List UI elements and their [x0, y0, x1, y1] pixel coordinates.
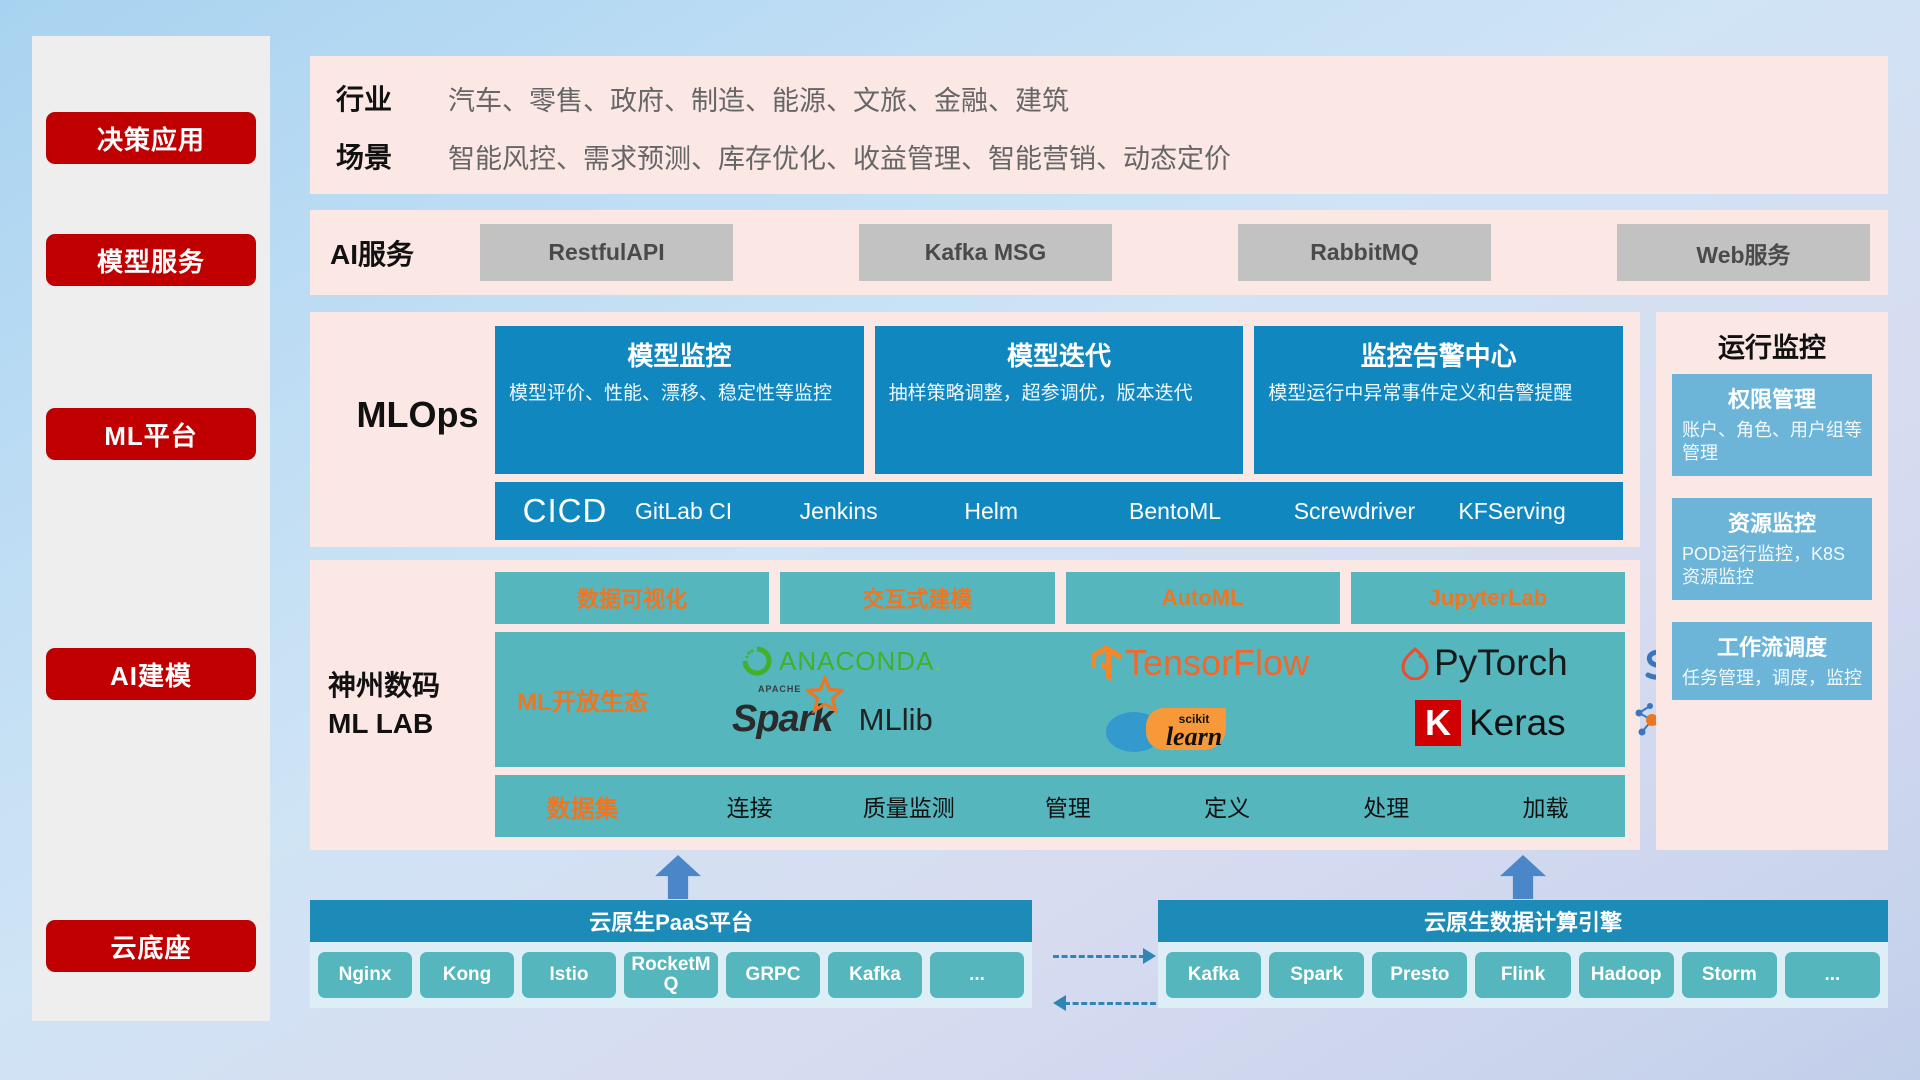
ml-ecosystem-logos: ANACONDA. APACHE Spark MLlib: [670, 632, 1625, 767]
mlops-card-title: 监控告警中心: [1268, 336, 1609, 373]
monitor-card-permission[interactable]: 权限管理 账户、角色、用户组等管理: [1672, 374, 1872, 476]
rail-item-cloud-base[interactable]: 云底座: [46, 920, 256, 972]
monitor-card-title: 工作流调度: [1682, 630, 1862, 662]
dataset-item-definition[interactable]: 定义: [1148, 789, 1307, 823]
mlops-card-title: 模型迭代: [889, 336, 1230, 373]
ml-tool-list: 数据可视化 交互式建模 AutoML JupyterLab: [495, 572, 1625, 624]
tool-label: AutoML: [1162, 585, 1244, 611]
service-label: Web服务: [1696, 236, 1790, 270]
keras-logo: K Keras: [1415, 700, 1566, 746]
ml-lab-section-label: 神州数码 ML LAB: [328, 560, 508, 850]
rail-item-ai-modeling[interactable]: AI建模: [46, 648, 256, 700]
cloud-paas-header: 云原生PaaS平台: [310, 900, 1032, 942]
scenario-value: 智能风控、需求预测、库存优化、收益管理、智能营销、动态定价: [448, 137, 1231, 176]
mlops-card-desc: 模型评价、性能、漂移、稳定性等监控: [509, 381, 850, 407]
rail-item-ml-platform[interactable]: ML平台: [46, 408, 256, 460]
cloud-chip-grpc[interactable]: GRPC: [726, 952, 820, 998]
scenario-label: 场景: [336, 136, 448, 176]
pytorch-logo: PyTorch: [1400, 642, 1568, 684]
rail-item-label: 模型服务: [97, 242, 205, 279]
spark-mllib-logo: APACHE Spark MLlib: [732, 698, 933, 741]
rail-item-decision-app[interactable]: 决策应用: [46, 112, 256, 164]
mlops-card-alert-center[interactable]: 监控告警中心 模型运行中异常事件定义和告警提醒: [1254, 326, 1623, 474]
dataset-item-processing[interactable]: 处理: [1307, 789, 1466, 823]
dataset-item-loading[interactable]: 加载: [1466, 789, 1625, 823]
mlops-section-label: MLOps: [330, 312, 505, 517]
cicd-bar: CICD GitLab CI Jenkins Helm BentoML Scre…: [495, 482, 1623, 540]
service-label: RestfulAPI: [548, 239, 664, 266]
service-label: RabbitMQ: [1310, 239, 1419, 266]
cloud-chip-more[interactable]: ...: [930, 952, 1024, 998]
monitor-card-list: 权限管理 账户、角色、用户组等管理 资源监控 POD运行监控，K8S资源监控 工…: [1672, 374, 1872, 722]
cloud-chip-rocketmq[interactable]: RocketMQ: [624, 952, 718, 998]
service-box-kafka-msg[interactable]: Kafka MSG: [859, 224, 1112, 281]
dataset-band: 数据集 连接 质量监测 管理 定义 处理 加载: [495, 775, 1625, 837]
service-box-restfulapi[interactable]: RestfulAPI: [480, 224, 733, 281]
cloud-native-compute-group: 云原生数据计算引擎 Kafka Spark Presto Flink Hadoo…: [1158, 900, 1888, 1008]
dataset-item-quality-monitoring[interactable]: 质量监测: [829, 789, 988, 823]
dashed-arrow-right-icon: [1053, 955, 1156, 957]
tool-label: 交互式建模: [862, 582, 972, 614]
industry-value: 汽车、零售、政府、制造、能源、文旅、金融、建筑: [448, 79, 1069, 118]
cloud-chip-flink[interactable]: Flink: [1475, 952, 1570, 998]
mlops-card-desc: 抽样策略调整，超参调优，版本迭代: [889, 381, 1230, 407]
service-box-web-service[interactable]: Web服务: [1617, 224, 1870, 281]
cicd-item-kfserving[interactable]: KFServing: [1458, 499, 1623, 523]
mlops-card-list: 模型监控 模型评价、性能、漂移、稳定性等监控 模型迭代 抽样策略调整，超参调优，…: [495, 326, 1623, 474]
cicd-item-screwdriver[interactable]: Screwdriver: [1294, 499, 1459, 523]
tool-label: JupyterLab: [1429, 585, 1548, 611]
cloud-chip-istio[interactable]: Istio: [522, 952, 616, 998]
rail-item-label: ML平台: [104, 416, 198, 453]
cloud-chip-kong[interactable]: Kong: [420, 952, 514, 998]
ml-ecosystem-label: ML开放生态: [495, 682, 670, 717]
dashed-arrow-left-icon: [1053, 1002, 1156, 1004]
cloud-chip-kafka[interactable]: Kafka: [1166, 952, 1261, 998]
tool-box-interactive-modeling[interactable]: 交互式建模: [780, 572, 1054, 624]
tool-box-data-visualization[interactable]: 数据可视化: [495, 572, 769, 624]
cloud-chip-kafka[interactable]: Kafka: [828, 952, 922, 998]
ai-service-list: RestfulAPI Kafka MSG RabbitMQ Web服务: [480, 224, 1870, 281]
dataset-item-management[interactable]: 管理: [988, 789, 1147, 823]
cloud-compute-chip-list: Kafka Spark Presto Flink Hadoop Storm ..…: [1158, 942, 1888, 1008]
ml-lab-label-line1: 神州数码: [328, 667, 440, 705]
cicd-item-gitlab-ci[interactable]: GitLab CI: [635, 499, 800, 523]
tool-box-automl[interactable]: AutoML: [1066, 572, 1340, 624]
tool-box-jupyterlab[interactable]: JupyterLab: [1351, 572, 1625, 624]
monitor-card-workflow[interactable]: 工作流调度 任务管理，调度，监控: [1672, 622, 1872, 700]
ml-lab-panel: 神州数码 ML LAB 数据可视化 交互式建模 AutoML JupyterLa…: [310, 560, 1640, 850]
cloud-chip-more[interactable]: ...: [1785, 952, 1880, 998]
cloud-native-paas-group: 云原生PaaS平台 Nginx Kong Istio RocketMQ GRPC…: [310, 900, 1032, 1008]
service-label: Kafka MSG: [925, 239, 1046, 266]
monitor-card-desc: POD运行监控，K8S资源监控: [1682, 543, 1862, 590]
service-box-rabbitmq[interactable]: RabbitMQ: [1238, 224, 1491, 281]
cloud-chip-spark[interactable]: Spark: [1269, 952, 1364, 998]
mlops-card-model-iteration[interactable]: 模型迭代 抽样策略调整，超参调优，版本迭代: [875, 326, 1244, 474]
ai-service-panel: AI服务 RestfulAPI Kafka MSG RabbitMQ Web服务: [310, 210, 1888, 295]
industry-label: 行业: [336, 78, 448, 118]
scenario-row: 场景 智能风控、需求预测、库存优化、收益管理、智能营销、动态定价: [336, 132, 1231, 180]
cicd-item-jenkins[interactable]: Jenkins: [800, 499, 965, 523]
monitor-card-title: 资源监控: [1682, 506, 1862, 538]
ml-ecosystem-band: ML开放生态 ANACONDA. APACHE Spa: [495, 632, 1625, 767]
mlops-card-model-monitoring[interactable]: 模型监控 模型评价、性能、漂移、稳定性等监控: [495, 326, 864, 474]
svg-text:learn: learn: [1166, 722, 1222, 751]
monitor-card-title: 权限管理: [1682, 382, 1862, 414]
anaconda-logo: ANACONDA.: [740, 644, 943, 678]
cloud-chip-presto[interactable]: Presto: [1372, 952, 1467, 998]
cloud-chip-nginx[interactable]: Nginx: [318, 952, 412, 998]
tensorflow-logo: TensorFlow: [1090, 642, 1309, 684]
dataset-label: 数据集: [495, 789, 670, 824]
mlops-panel: MLOps 模型监控 模型评价、性能、漂移、稳定性等监控 模型迭代 抽样策略调整…: [310, 312, 1640, 547]
scikit-learn-logo: scikit learn: [1102, 698, 1292, 754]
tool-label: 数据可视化: [577, 582, 687, 614]
layer-rail: 决策应用 模型服务 ML平台 AI建模 云底座: [32, 36, 270, 1021]
monitor-card-resource[interactable]: 资源监控 POD运行监控，K8S资源监控: [1672, 498, 1872, 600]
cloud-compute-header: 云原生数据计算引擎: [1158, 900, 1888, 942]
cicd-item-bentoml[interactable]: BentoML: [1129, 499, 1294, 523]
cloud-chip-hadoop[interactable]: Hadoop: [1579, 952, 1674, 998]
industry-scenario-panel: 行业 汽车、零售、政府、制造、能源、文旅、金融、建筑 场景 智能风控、需求预测、…: [310, 56, 1888, 194]
arrow-up-icon-compute: [1500, 855, 1546, 899]
mlops-card-title: 模型监控: [509, 336, 850, 373]
ml-lab-label-line2: ML LAB: [328, 705, 433, 743]
cloud-paas-chip-list: Nginx Kong Istio RocketMQ GRPC Kafka ...: [310, 942, 1032, 1008]
arrow-up-icon-paas: [655, 855, 701, 899]
industry-row: 行业 汽车、零售、政府、制造、能源、文旅、金融、建筑: [336, 74, 1069, 122]
monitor-card-desc: 账户、角色、用户组等管理: [1682, 419, 1862, 466]
mlops-card-desc: 模型运行中异常事件定义和告警提醒: [1268, 381, 1609, 407]
rail-item-model-service[interactable]: 模型服务: [46, 234, 256, 286]
cloud-chip-storm[interactable]: Storm: [1682, 952, 1777, 998]
runtime-monitor-title: 运行监控: [1656, 326, 1888, 365]
rail-item-label: 决策应用: [97, 120, 205, 157]
cicd-item-helm[interactable]: Helm: [964, 499, 1129, 523]
rail-item-label: 云底座: [110, 928, 191, 965]
ai-service-section-label: AI服务: [330, 210, 414, 295]
monitor-card-desc: 任务管理，调度，监控: [1682, 667, 1862, 690]
rail-item-label: AI建模: [110, 656, 192, 693]
architecture-diagram: 决策应用 模型服务 ML平台 AI建模 云底座 行业 汽车、零售、政府、制造、能…: [0, 0, 1920, 1080]
cicd-title: CICD: [495, 492, 635, 530]
runtime-monitor-panel: 运行监控 权限管理 账户、角色、用户组等管理 资源监控 POD运行监控，K8S资…: [1656, 312, 1888, 850]
dataset-item-connect[interactable]: 连接: [670, 789, 829, 823]
